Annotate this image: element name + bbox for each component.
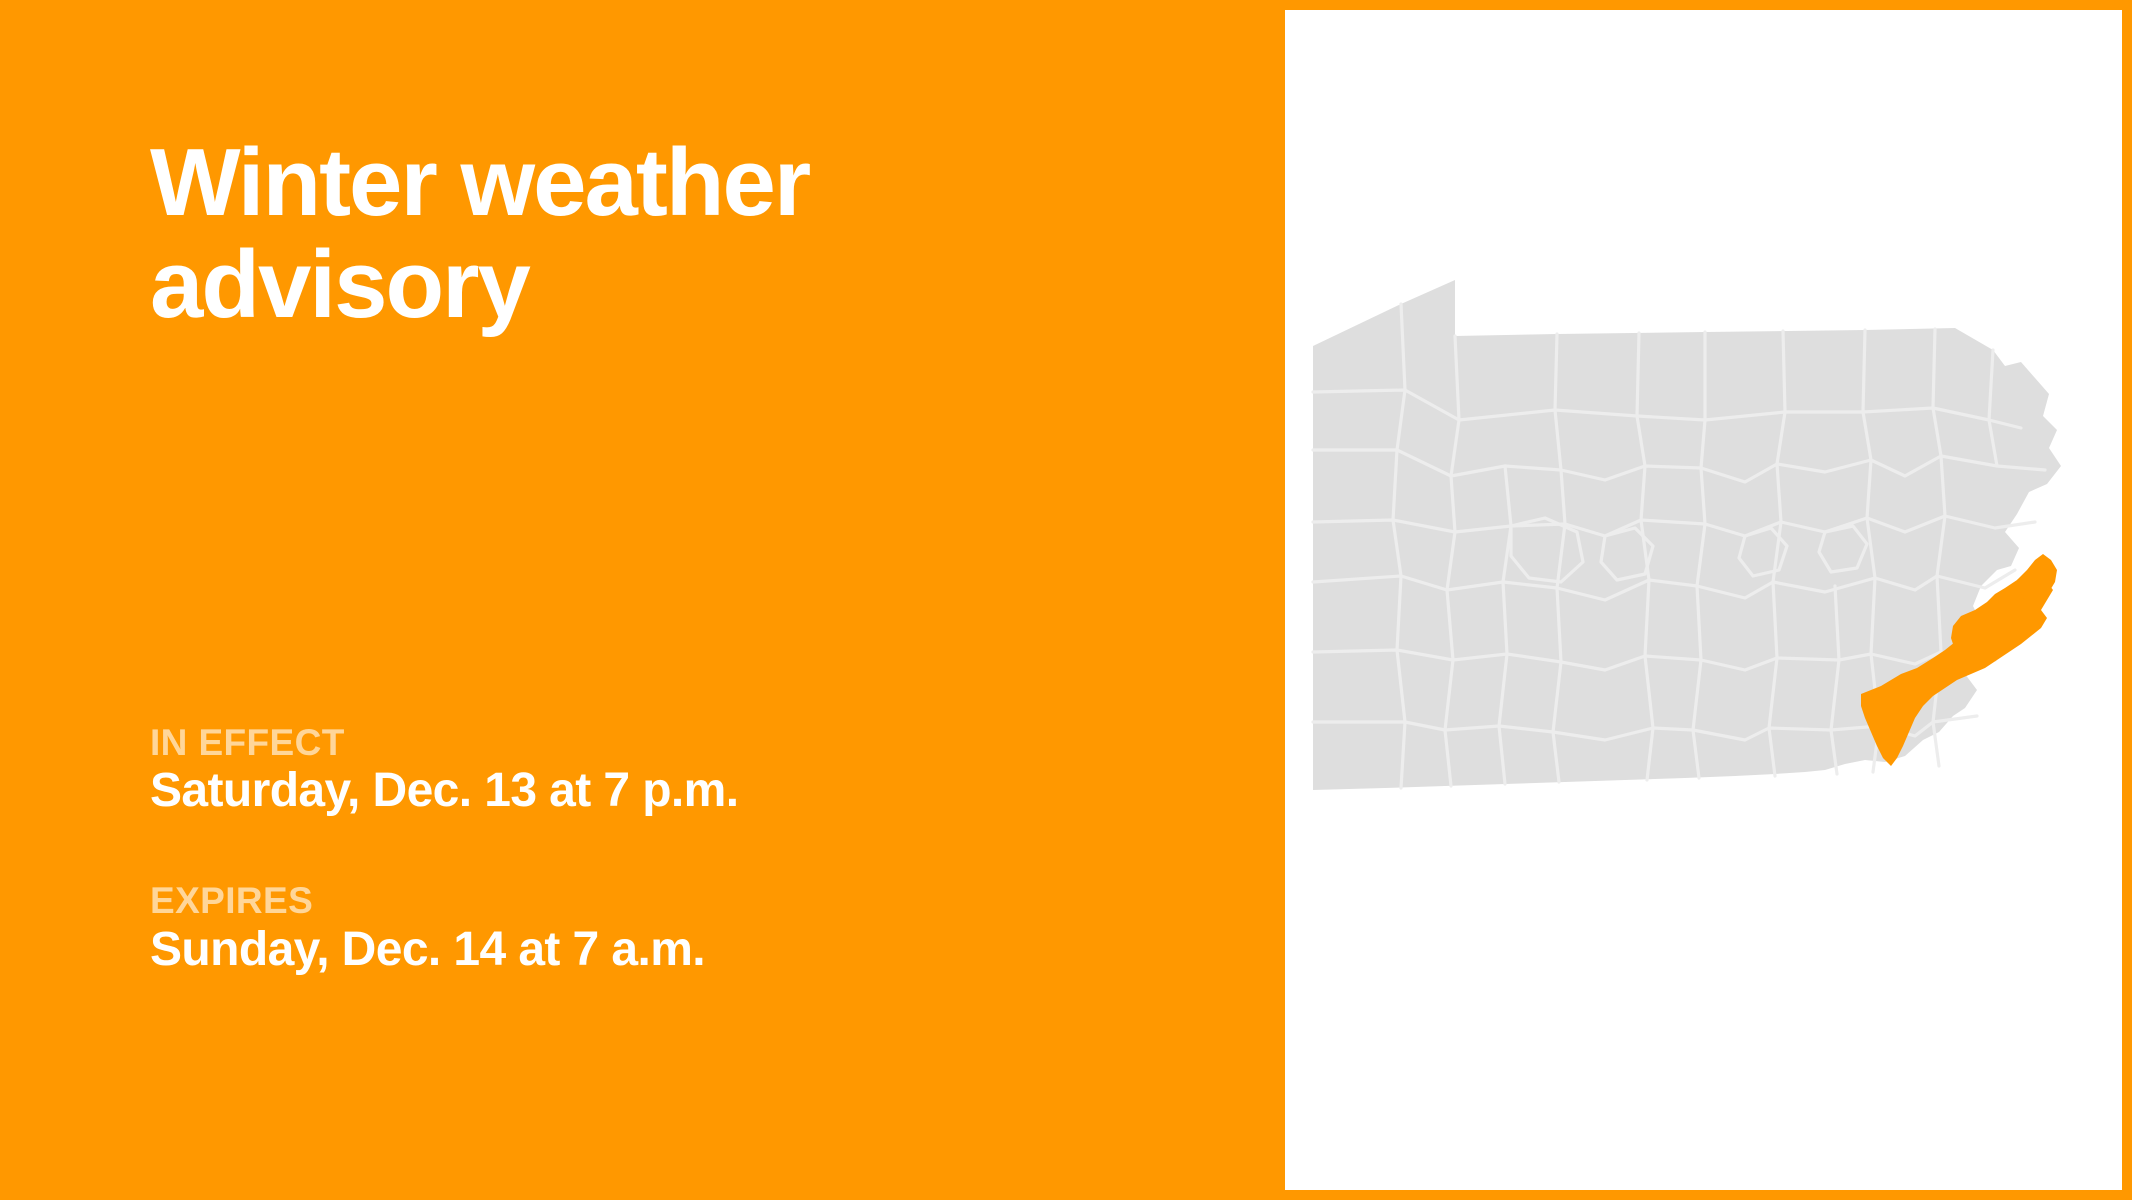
page-title: Winter weather advisory: [150, 132, 1050, 336]
alert-info-panel: Winter weather advisory IN EFFECT Saturd…: [0, 0, 1285, 1200]
expires-label: EXPIRES: [150, 880, 1150, 921]
state-base-shape: [1313, 280, 2061, 790]
expires-value: Sunday, Dec. 14 at 7 a.m.: [150, 922, 1150, 979]
in-effect-block: IN EFFECT Saturday, Dec. 13 at 7 p.m.: [150, 722, 1150, 820]
alert-map-panel: [1285, 10, 2122, 1190]
weather-alert-card: Winter weather advisory IN EFFECT Saturd…: [0, 0, 2132, 1200]
alert-times-list: IN EFFECT Saturday, Dec. 13 at 7 p.m. EX…: [150, 722, 1150, 978]
in-effect-value: Saturday, Dec. 13 at 7 p.m.: [150, 763, 1150, 820]
in-effect-label: IN EFFECT: [150, 722, 1150, 763]
expires-block: EXPIRES Sunday, Dec. 14 at 7 a.m.: [150, 880, 1150, 978]
pennsylvania-map-icon: [1305, 270, 2105, 830]
